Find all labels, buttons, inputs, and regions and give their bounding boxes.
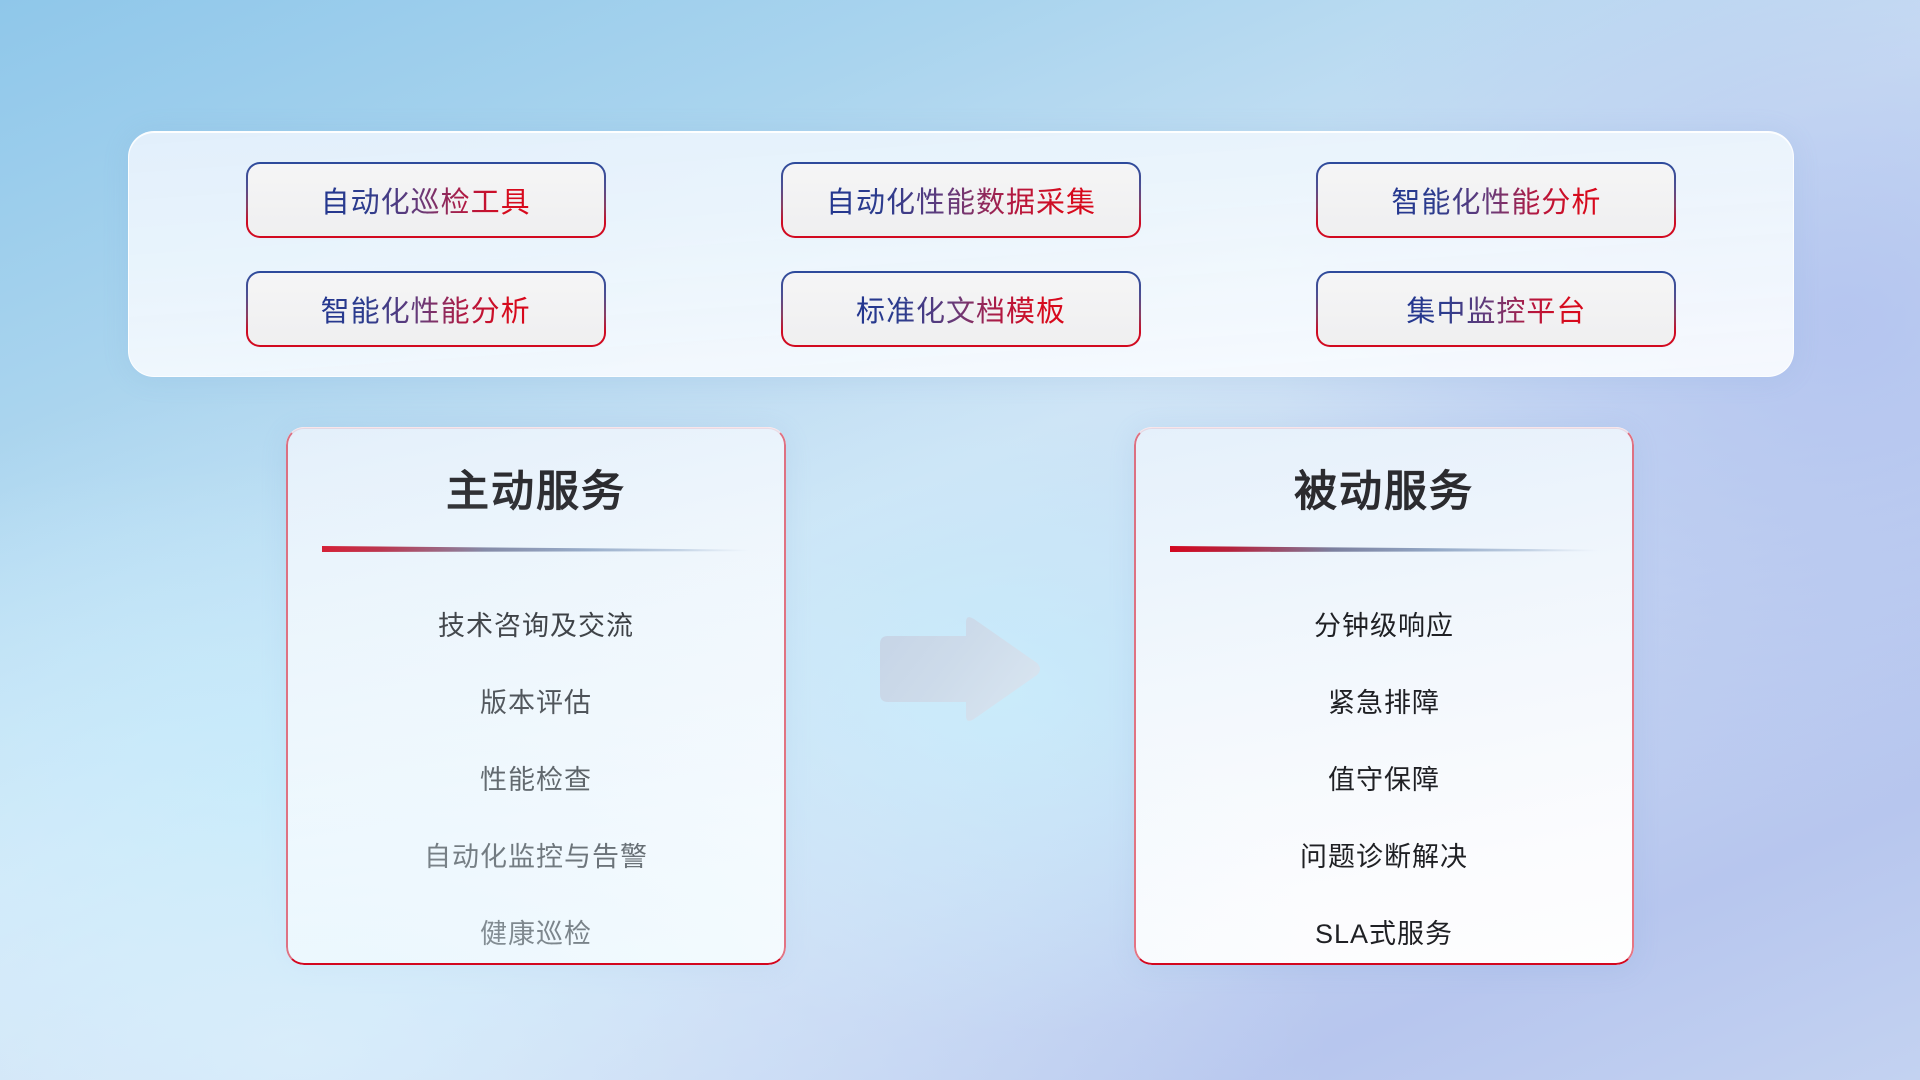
chip-label: 自动化巡检工具: [321, 179, 531, 221]
list-item: 技术咨询及交流: [306, 585, 766, 662]
list-item: 自动化监控与告警: [306, 816, 766, 893]
slide-canvas: 自动化巡检工具 自动化性能数据采集 智能化性能分析 智能化性能分析 标准化文档模…: [0, 0, 1920, 1080]
chip-intelligent-perf-analysis-1[interactable]: 智能化性能分析: [1318, 164, 1674, 236]
list-item: 分钟级响应: [1154, 585, 1614, 662]
list-item: 紧急排障: [1154, 662, 1614, 739]
service-item-list: 分钟级响应 紧急排障 值守保障 问题诊断解决 SLA式服务: [1134, 585, 1634, 965]
list-item: 性能检查: [306, 739, 766, 816]
card-proactive-service: 主动服务 技术咨询及交流 版本评估 性能检查: [286, 427, 786, 965]
chip-label: 自动化性能数据采集: [826, 179, 1096, 221]
chip-central-monitor-platform[interactable]: 集中监控平台: [1318, 273, 1674, 345]
capability-tags-panel: 自动化巡检工具 自动化性能数据采集 智能化性能分析 智能化性能分析 标准化文档模…: [128, 131, 1794, 377]
list-item: 值守保障: [1154, 739, 1614, 816]
card-reactive-service: 被动服务 分钟级响应 紧急排障 值守保障: [1134, 427, 1634, 965]
title-divider: [322, 545, 750, 553]
chip-label: 智能化性能分析: [1391, 179, 1601, 221]
chip-label: 集中监控平台: [1406, 288, 1586, 330]
list-item: 健康巡检: [306, 893, 766, 965]
chip-intelligent-perf-analysis-2[interactable]: 智能化性能分析: [248, 273, 604, 345]
card-title: 被动服务: [1134, 457, 1634, 519]
list-item: 问题诊断解决: [1154, 816, 1614, 893]
chip-auto-perf-data-collect[interactable]: 自动化性能数据采集: [783, 164, 1139, 236]
chip-label: 智能化性能分析: [321, 288, 531, 330]
chip-label: 标准化文档模板: [856, 288, 1066, 330]
service-item-list: 技术咨询及交流 版本评估 性能检查 自动化监控与告警 健康巡检: [286, 585, 786, 965]
arrow-right-icon: [874, 614, 1042, 724]
title-divider: [1170, 545, 1598, 553]
chip-standard-doc-template[interactable]: 标准化文档模板: [783, 273, 1139, 345]
chip-auto-inspection-tool[interactable]: 自动化巡检工具: [248, 164, 604, 236]
card-title: 主动服务: [286, 457, 786, 519]
list-item: 版本评估: [306, 662, 766, 739]
list-item: SLA式服务: [1154, 893, 1614, 965]
